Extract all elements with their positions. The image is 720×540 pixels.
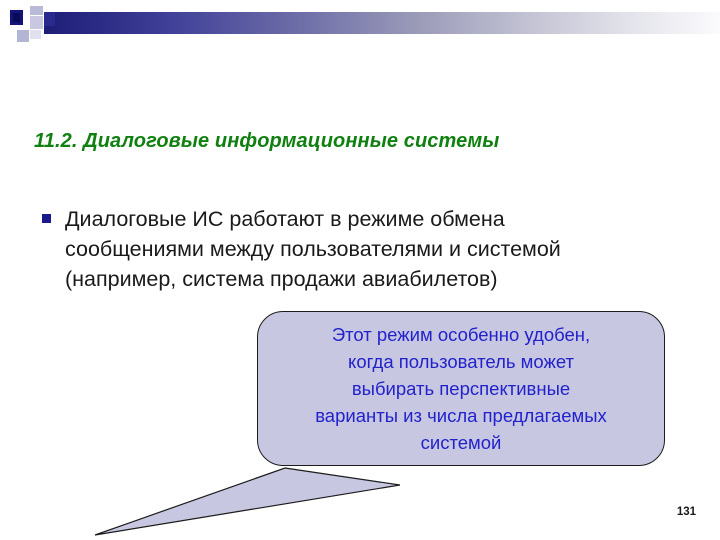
gradient-bar — [44, 12, 720, 34]
bullet-list-item: Диалоговые ИС работают в режиме обмена с… — [42, 204, 642, 294]
bullet-item-text: Диалоговые ИС работают в режиме обмена с… — [65, 204, 585, 294]
page-number: 131 — [677, 506, 696, 518]
square-bullet-icon — [42, 214, 51, 223]
square-white-gap — [24, 0, 30, 30]
header-decoration — [0, 0, 720, 46]
callout-tail-shape — [95, 468, 400, 535]
square-navy-right — [44, 12, 55, 26]
square-periwinkle-upper — [30, 6, 43, 15]
page-title: 11.2. Диалоговые информационные системы — [34, 130, 674, 153]
callout-bubble: Этот режим особенно удобен, когда пользо… — [257, 311, 665, 466]
square-lavender-faint — [30, 30, 41, 39]
square-periwinkle-low — [17, 30, 29, 42]
square-periwinkle-mid — [30, 16, 43, 29]
square-dark-navy-inner — [13, 13, 20, 22]
callout-bubble-text: Этот режим особенно удобен, когда пользо… — [271, 321, 651, 456]
callout-bubble-body: Этот режим особенно удобен, когда пользо… — [257, 311, 665, 466]
